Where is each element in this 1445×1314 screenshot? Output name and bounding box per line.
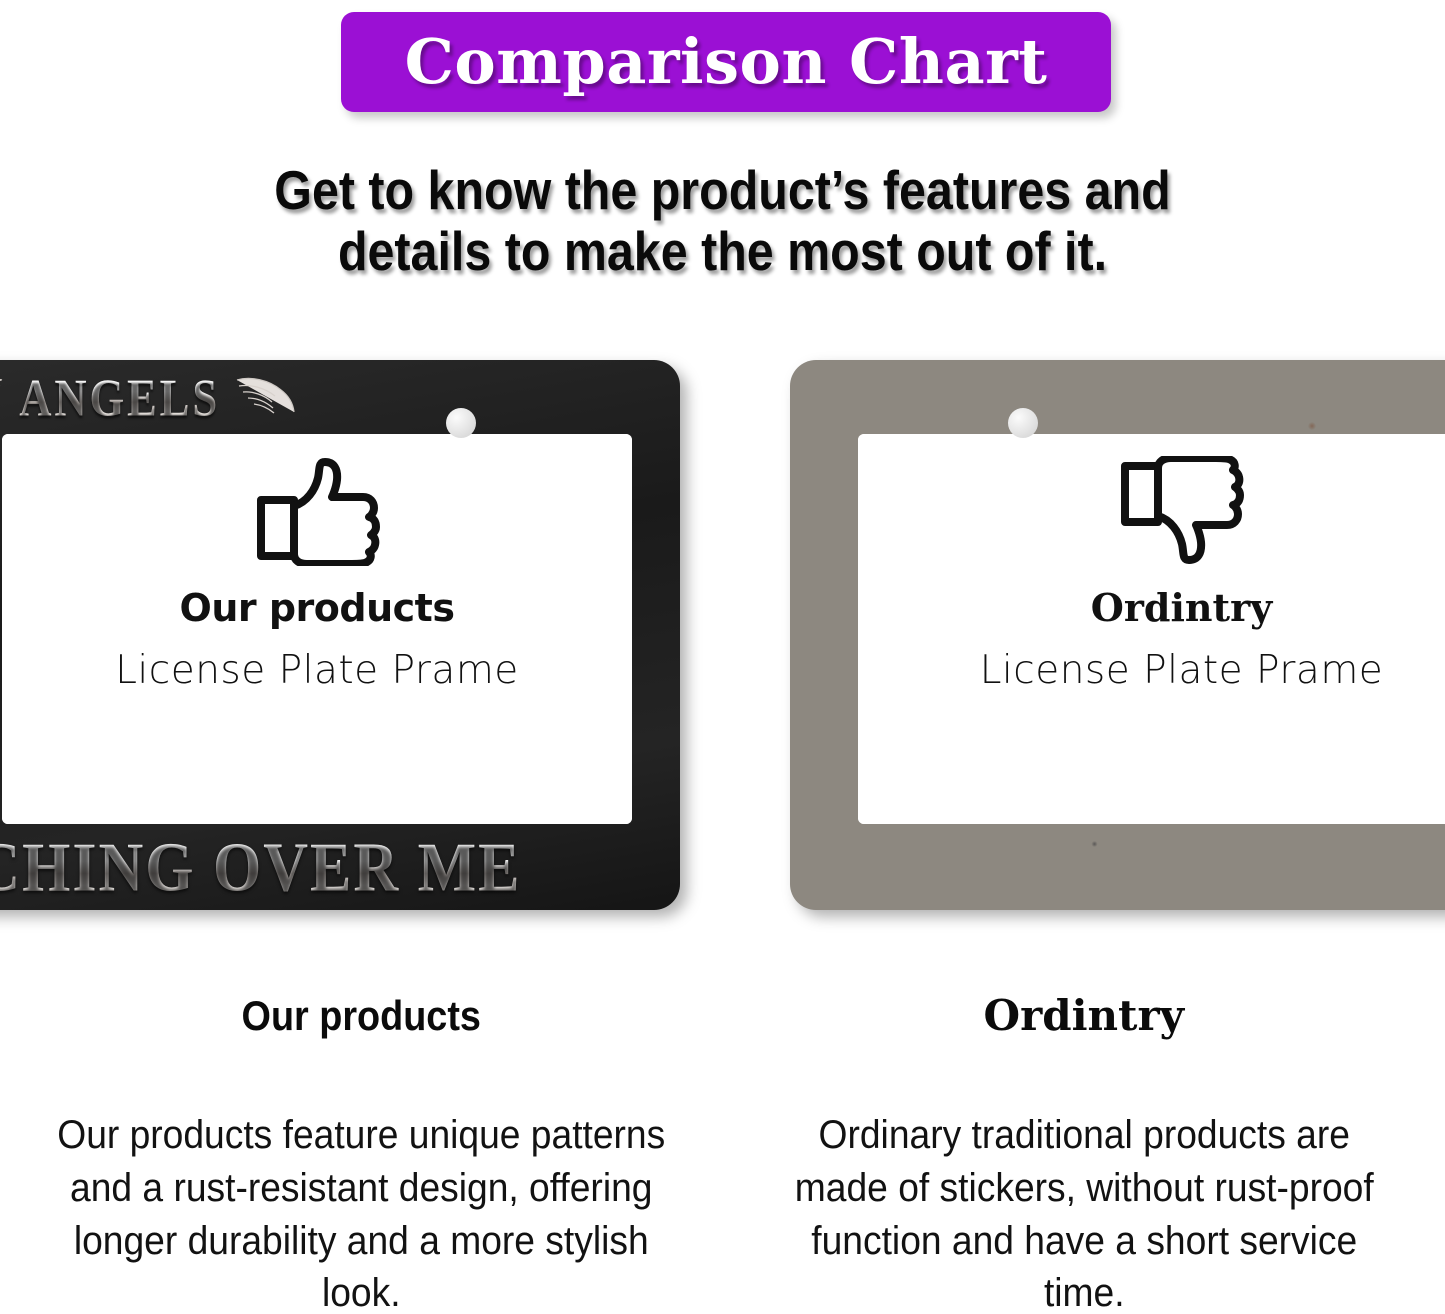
our-product-frame: ANGELS TCHING OVER ME bbox=[0, 360, 680, 910]
column-body-ordinary: Ordinary traditional products are made o… bbox=[776, 1109, 1392, 1314]
plate-label-left: Our products bbox=[180, 589, 455, 627]
column-heading-our-products: Our products bbox=[63, 995, 659, 1037]
ordinary-product-frame: Ordintry License Plate Prame bbox=[790, 360, 1445, 910]
frames-row: ANGELS TCHING OVER ME bbox=[0, 360, 1445, 920]
thumbs-down-icon bbox=[1119, 456, 1244, 571]
thumbs-up-icon bbox=[255, 456, 380, 571]
plate-label-right: Ordintry bbox=[1091, 589, 1272, 627]
column-ordinary: Ordintry Ordinary traditional products a… bbox=[723, 995, 1445, 1314]
subtitle-line-1: Get to know the product’s features and bbox=[274, 159, 1170, 221]
subtitle-line-2: details to make the most out of it. bbox=[87, 221, 1359, 282]
page-title: Comparison Chart bbox=[405, 31, 1048, 93]
plate-sublabel-left: License Plate Prame bbox=[115, 651, 519, 690]
column-heading-ordinary: Ordintry bbox=[753, 995, 1416, 1037]
column-our-products: Our products Our products feature unique… bbox=[0, 995, 723, 1314]
title-banner: Comparison Chart bbox=[341, 12, 1111, 112]
plate-content-left: Our products License Plate Prame bbox=[2, 434, 632, 824]
subtitle: Get to know the product’s features and d… bbox=[87, 160, 1359, 281]
plate-content-right: Ordintry License Plate Prame bbox=[858, 434, 1445, 824]
comparison-columns: Our products Our products feature unique… bbox=[0, 995, 1445, 1314]
plate-sublabel-right: License Plate Prame bbox=[980, 651, 1384, 690]
column-body-our-products: Our products feature unique patterns and… bbox=[53, 1109, 669, 1314]
comparison-chart-page: Comparison Chart Get to know the product… bbox=[0, 0, 1445, 1314]
